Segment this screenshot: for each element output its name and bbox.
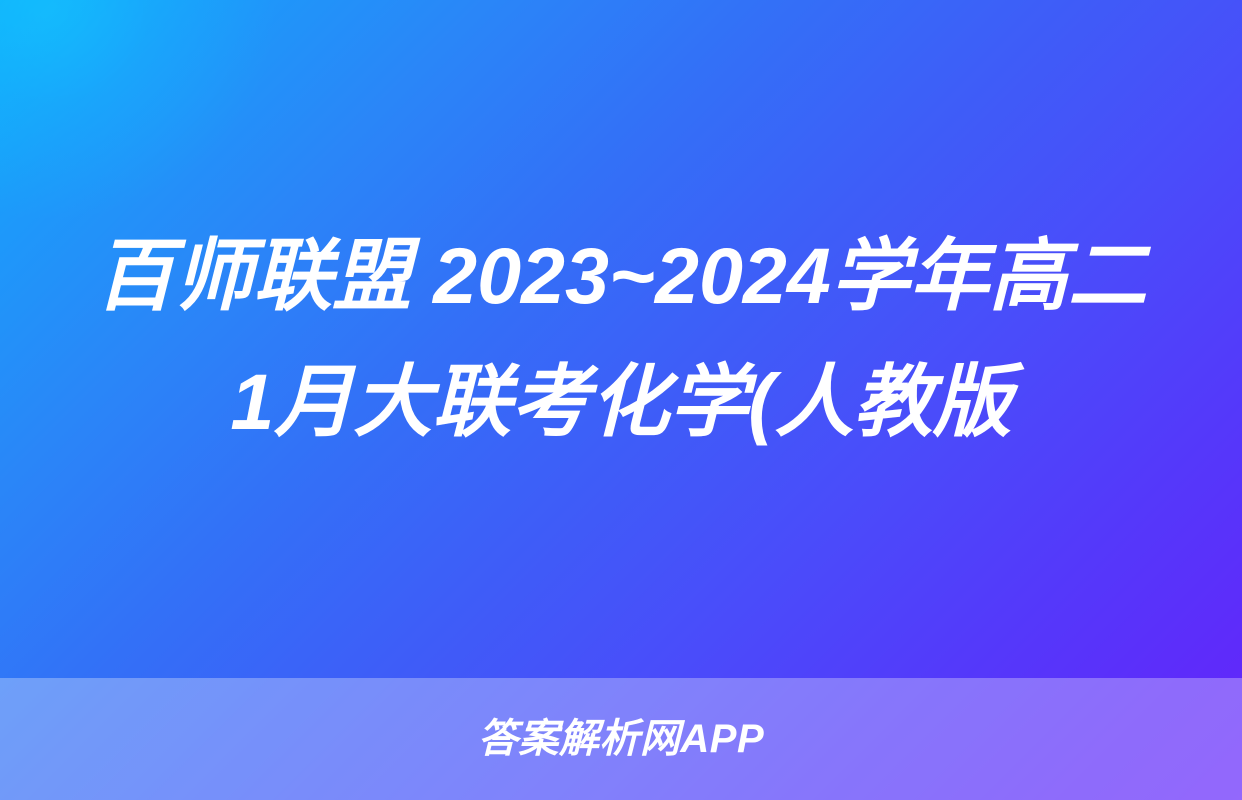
poster-canvas: 百师联盟 2023~2024学年高二1月大联考化学(人教版 答案解析网APP <box>0 0 1242 800</box>
poster-title: 百师联盟 2023~2024学年高二1月大联考化学(人教版 <box>78 213 1164 466</box>
footer-watermark-band: 答案解析网APP <box>0 678 1242 800</box>
title-area: 百师联盟 2023~2024学年高二1月大联考化学(人教版 <box>0 0 1242 678</box>
footer-watermark-text: 答案解析网APP <box>478 719 764 759</box>
